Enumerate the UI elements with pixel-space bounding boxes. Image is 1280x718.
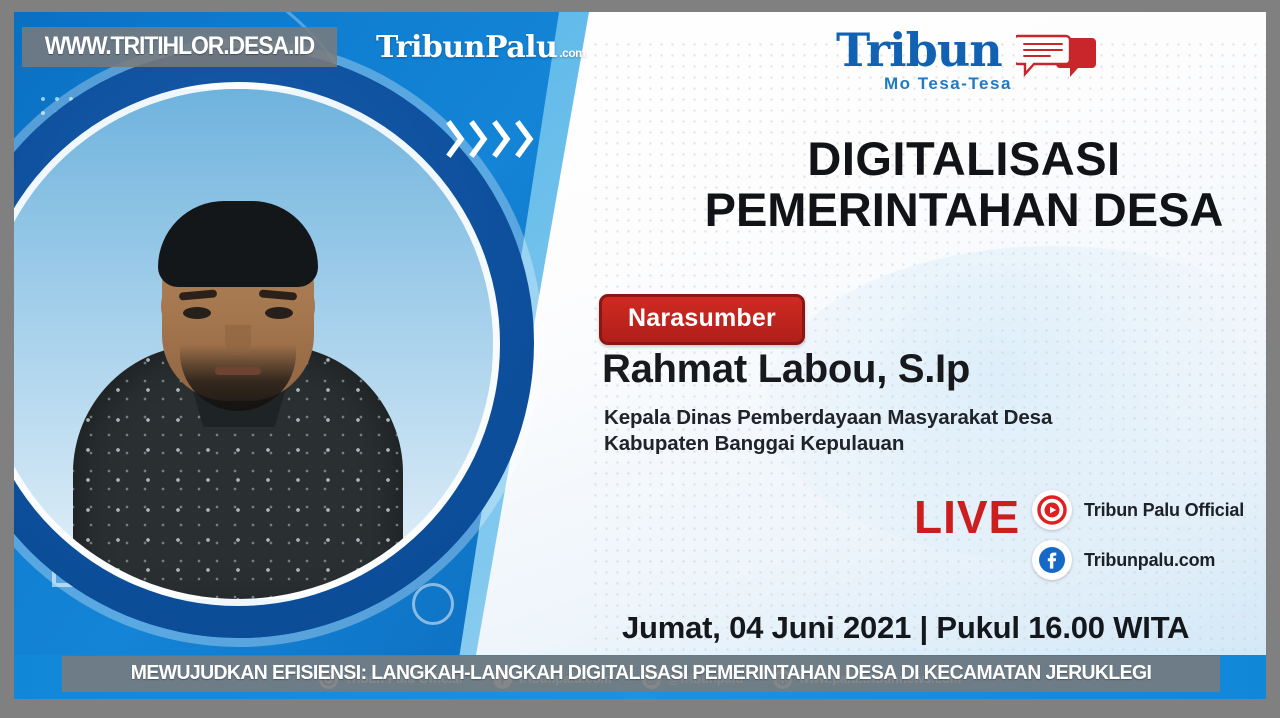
narasumber-badge: Narasumber bbox=[599, 294, 805, 345]
chevron-right-icon bbox=[515, 120, 535, 158]
speech-bubbles-icon bbox=[1016, 34, 1096, 88]
live-label: LIVE bbox=[914, 490, 1020, 544]
speaker-role: Kepala Dinas Pemberdayaan Masyarakat Des… bbox=[604, 405, 1052, 457]
headline-line-2: PEMERINTAHAN DESA bbox=[674, 185, 1254, 236]
site-url-overlay: WWW.TRITIHLOR.DESA.ID bbox=[22, 27, 337, 67]
headline-line-1: DIGITALISASI bbox=[674, 134, 1254, 185]
live-channel-facebook-label: Tribunpalu.com bbox=[1084, 550, 1215, 571]
watermark-logo-text: TribunPalu bbox=[376, 30, 557, 65]
photo-eye-left bbox=[183, 307, 211, 319]
chevron-right-icon bbox=[492, 120, 512, 158]
live-channel-facebook[interactable]: Tribunpalu.com bbox=[1032, 540, 1215, 580]
caption-overlay: MEWUJUDKAN EFISIENSI: LANGKAH-LANGKAH DI… bbox=[62, 656, 1220, 692]
tribun-logo-tagline: Mo Tesa-Tesa bbox=[884, 74, 1012, 94]
caption-text: MEWUJUDKAN EFISIENSI: LANGKAH-LANGKAH DI… bbox=[131, 662, 1152, 685]
watermark-logo-suffix: .com bbox=[559, 46, 585, 60]
photo-eye-right bbox=[265, 307, 293, 319]
poster-frame: TribunPalu .com Tribun Mo Tesa-Tesa bbox=[0, 0, 1280, 718]
photo-nose bbox=[225, 325, 251, 355]
youtube-icon bbox=[1032, 490, 1072, 530]
portrait-frame bbox=[14, 82, 500, 606]
tribun-logo-word: Tribun bbox=[836, 28, 1012, 72]
speaker-role-line-2: Kabupaten Banggai Kepulauan bbox=[604, 431, 1052, 457]
event-headline: DIGITALISASI PEMERINTAHAN DESA bbox=[674, 134, 1254, 236]
chevron-right-icon bbox=[446, 120, 466, 158]
live-channel-youtube-label: Tribun Palu Official bbox=[1084, 500, 1244, 521]
event-flyer: TribunPalu .com Tribun Mo Tesa-Tesa bbox=[14, 12, 1266, 699]
chevron-right-icon bbox=[469, 120, 489, 158]
photo-mouth bbox=[215, 367, 261, 375]
event-datetime: Jumat, 04 Juni 2021 | Pukul 16.00 WITA bbox=[622, 610, 1189, 646]
tribun-brand-logo: Tribun Mo Tesa-Tesa bbox=[836, 28, 1096, 94]
site-url-text: WWW.TRITIHLOR.DESA.ID bbox=[45, 32, 314, 61]
speaker-role-line-1: Kepala Dinas Pemberdayaan Masyarakat Des… bbox=[604, 405, 1052, 431]
speaker-photo bbox=[14, 89, 493, 599]
live-channel-youtube[interactable]: Tribun Palu Official bbox=[1032, 490, 1244, 530]
watermark-tribunpalu-logo: TribunPalu .com bbox=[376, 30, 585, 65]
facebook-icon bbox=[1032, 540, 1072, 580]
chevron-arrows-group bbox=[446, 120, 535, 158]
speaker-name: Rahmat Labou, S.Ip bbox=[602, 347, 970, 392]
